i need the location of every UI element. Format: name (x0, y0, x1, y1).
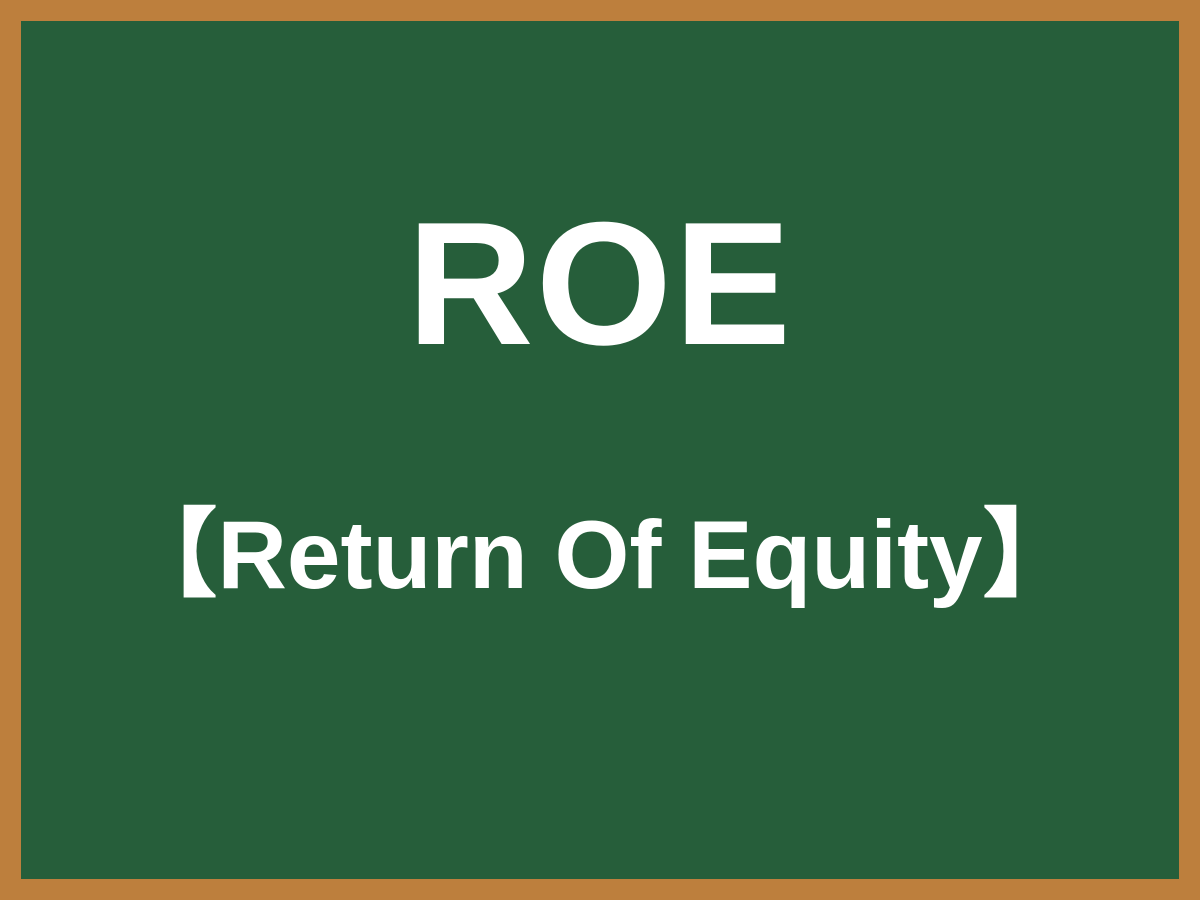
acronym-title-row: ROE (21, 197, 1179, 372)
chalkboard-panel: ROE 【Return Of Equity】 (21, 21, 1179, 879)
acronym-title: ROE (407, 197, 793, 372)
roe-definition-card: ROE 【Return Of Equity】 (0, 0, 1200, 900)
expansion-subtitle-row: 【Return Of Equity】 (21, 508, 1179, 604)
expansion-subtitle: 【Return Of Equity】 (121, 508, 1079, 604)
